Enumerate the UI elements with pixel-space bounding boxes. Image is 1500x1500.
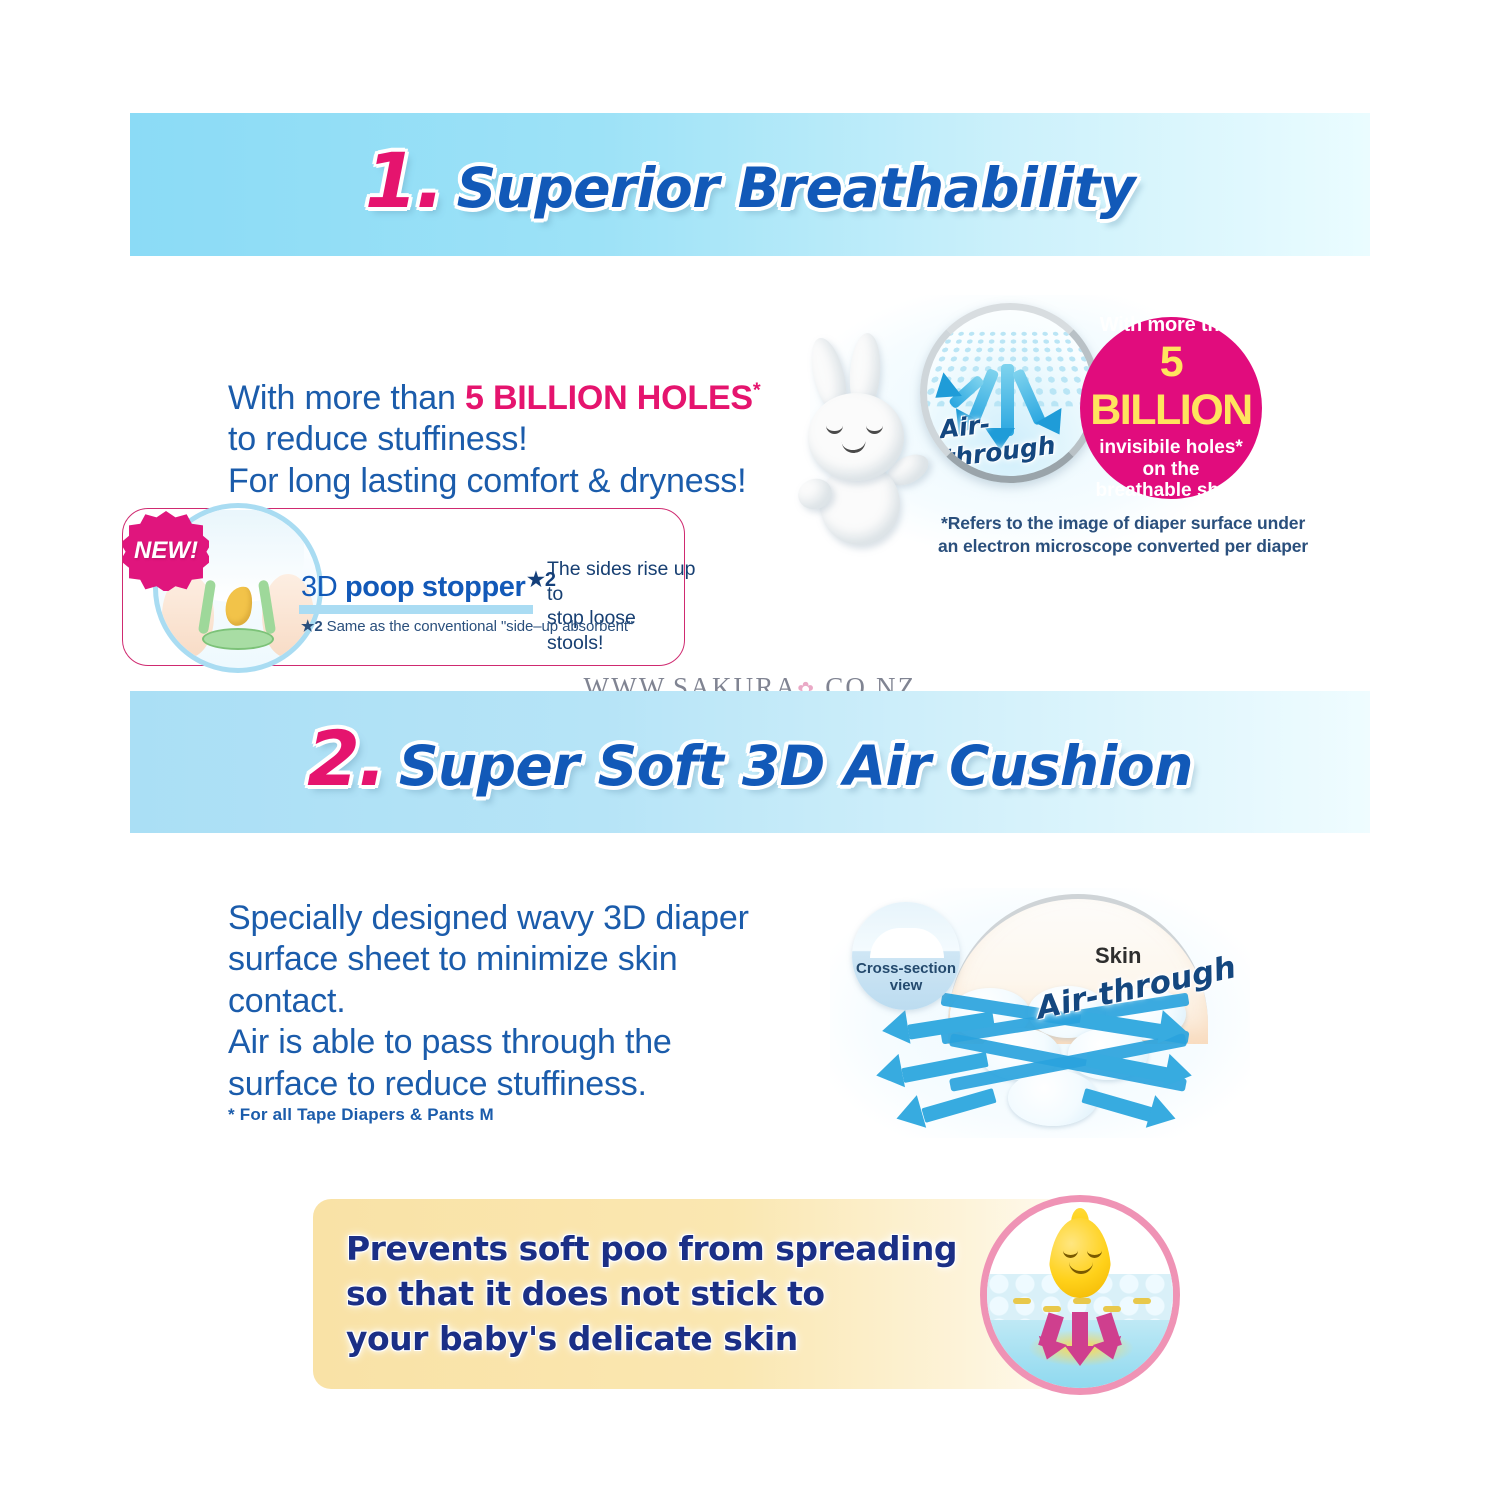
cross-section-view-icon: Cross-section view	[852, 902, 960, 1010]
cross-section-cushion	[870, 928, 944, 958]
banner-line-2: so that it does not stick to	[346, 1272, 1006, 1317]
section-2-footnote: * For all Tape Diapers & Pants M	[228, 1105, 494, 1125]
banner-line-1: Prevents soft poo from spreading	[346, 1227, 1006, 1272]
stopper-footnote-marker: ★2	[301, 618, 323, 635]
stopper-title: 3D poop stopper	[301, 571, 525, 604]
section-2-illustration: Cross-section view Skin Air-through	[830, 888, 1250, 1138]
badge-big-text: 5 BILLION	[1080, 338, 1262, 434]
copy-2-line-2: surface sheet to minimize skin	[228, 939, 758, 980]
smiling-droplet-icon	[1049, 1218, 1111, 1298]
section-2-body-copy: Specially designed wavy 3D diaper surfac…	[228, 898, 758, 1105]
section-1-number: 1.	[365, 136, 443, 225]
section-2-title: Super Soft 3D Air Cushion	[399, 734, 1193, 798]
badge-bottom-text: invisibile holes* on the breathable shee…	[1096, 437, 1247, 502]
badge-bottom-line-3: breathable sheet	[1096, 480, 1247, 502]
stopper-side-line-1: The sides rise up to	[547, 557, 697, 606]
cross-section-label-line-2: view	[852, 977, 960, 994]
copy-2-line-3: contact.	[228, 981, 758, 1022]
stopper-title-underline	[299, 605, 533, 614]
bottom-benefit-banner: Prevents soft poo from spreading so that…	[313, 1199, 1188, 1389]
stopper-title-prefix: 3D	[301, 571, 345, 603]
air-arrow-left-1-head	[880, 1010, 911, 1048]
copy-2-line-4: Air is able to pass through the	[228, 1022, 758, 1063]
residue-dash-4	[1103, 1306, 1121, 1312]
stopper-footnote-text: Same as the conventional "side–up absorb…	[323, 618, 634, 635]
residue-dash-1	[1013, 1298, 1031, 1304]
section-1-header-inner: 1. Superior Breathability	[365, 136, 1135, 225]
cross-section-label-line-1: Cross-section	[852, 960, 960, 977]
air-arrow-right-1-head	[1158, 1010, 1189, 1048]
skin-label: Skin	[1095, 943, 1141, 969]
copy-1-line-3: For long lasting comfort & dryness!	[228, 461, 788, 502]
badge-bottom-line-1: invisibile holes*	[1096, 437, 1247, 459]
copy-2-line-1: Specially designed wavy 3D diaper	[228, 898, 758, 939]
banner-line-3: your baby's delicate skin	[346, 1317, 1006, 1362]
residue-dash-2	[1043, 1306, 1061, 1312]
section-1-reference-note: *Refers to the image of diaper surface u…	[938, 512, 1308, 558]
stopper-footnote: ★2 Same as the conventional "side–up abs…	[301, 617, 633, 635]
stopper-title-bold: poop stopper	[345, 571, 525, 603]
soft-poo-absorption-icon	[980, 1195, 1180, 1395]
section-1-header-band: 1. Superior Breathability	[130, 113, 1370, 256]
section-1-title: Superior Breathability	[457, 156, 1136, 220]
section-2-header-inner: 2. Super Soft 3D Air Cushion	[307, 714, 1193, 803]
section-1-body-copy: With more than 5 BILLION HOLES* to reduc…	[228, 378, 788, 502]
residue-dash-5	[1133, 1298, 1151, 1304]
copy-1-line-1-prefix: With more than	[228, 379, 465, 417]
refs-note-line-2: an electron microscope converted per dia…	[938, 535, 1308, 558]
badge-bottom-line-2: on the	[1096, 459, 1247, 481]
section-2-header-band: 2. Super Soft 3D Air Cushion	[130, 691, 1370, 833]
residue-dash-3	[1073, 1298, 1091, 1304]
refs-note-line-1: *Refers to the image of diaper surface u…	[938, 512, 1308, 535]
absorbent-base	[202, 628, 274, 650]
breathable-sheet-magnifier-icon: Air-through	[920, 303, 1100, 483]
badge-top-text: With more than	[1100, 314, 1243, 336]
copy-1-line-1: With more than 5 BILLION HOLES*	[228, 378, 788, 419]
cross-section-label: Cross-section view	[852, 960, 960, 995]
copy-1-highlight: 5 BILLION HOLES	[465, 379, 753, 417]
copy-1-line-2: to reduce stuffiness!	[228, 419, 788, 460]
copy-2-line-5: surface to reduce stuffiness.	[228, 1064, 758, 1105]
poop-stopper-panel: NEW! 3D poop stopper ★2 The sides rise u…	[122, 508, 685, 666]
absorb-arrow-center-head	[1065, 1346, 1095, 1366]
stopper-side-text: The sides rise up to stop loose stools!	[547, 557, 697, 655]
five-billion-badge: With more than 5 BILLION invisibile hole…	[1080, 317, 1262, 499]
section-2-number: 2.	[307, 714, 385, 803]
copy-1-asterisk: *	[753, 380, 761, 402]
banner-text: Prevents soft poo from spreading so that…	[346, 1227, 1006, 1362]
